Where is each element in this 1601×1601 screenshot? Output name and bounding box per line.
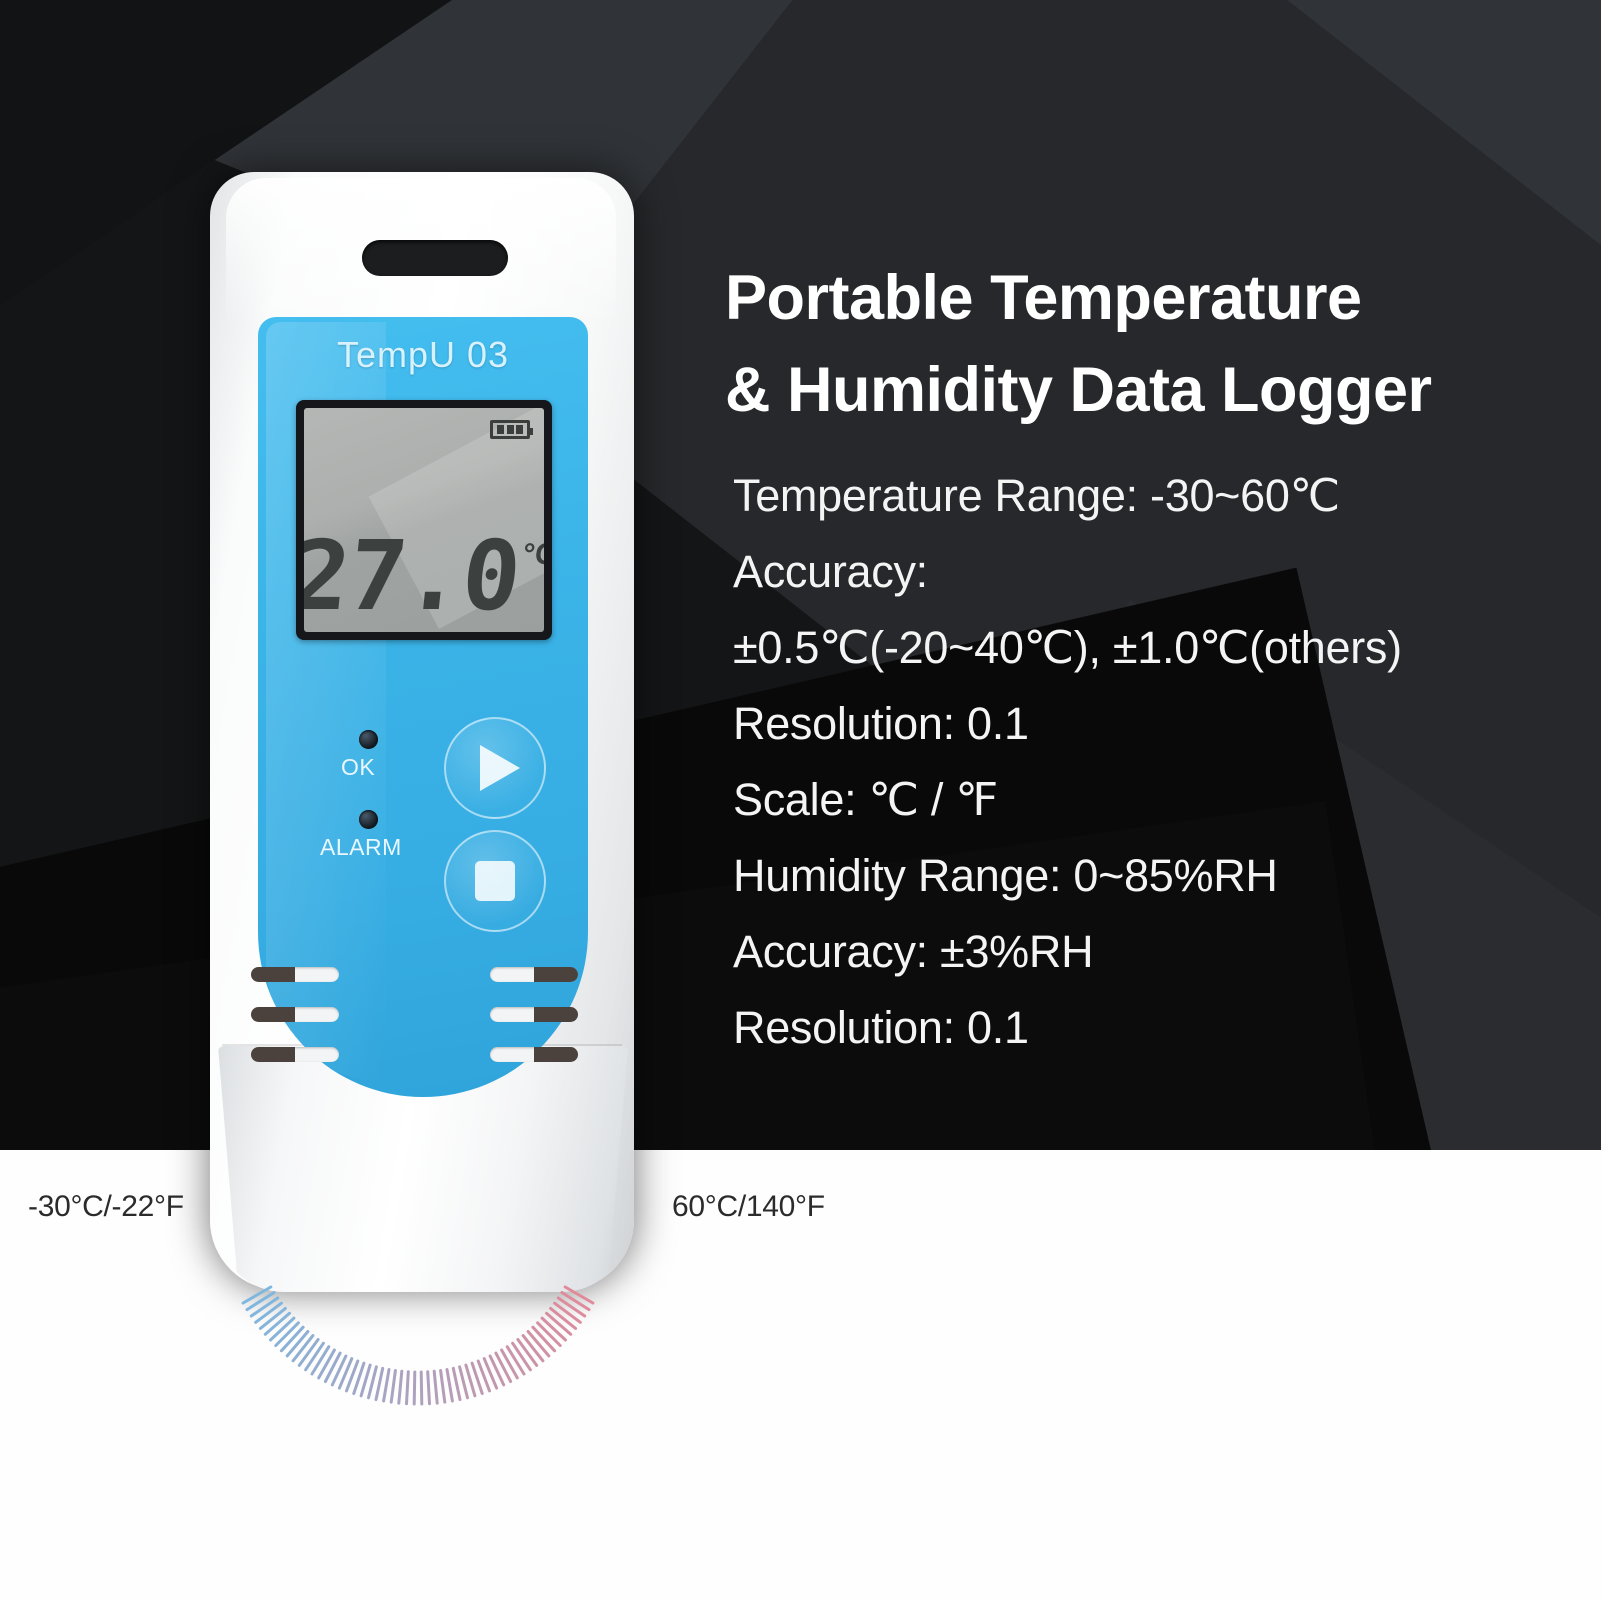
ok-label: OK: [341, 754, 375, 781]
vent-slot: [490, 1047, 578, 1062]
spec-line: Temperature Range: -30~60℃: [733, 458, 1563, 534]
vent-slot: [251, 967, 339, 982]
headline: Portable Temperature & Humidity Data Log…: [725, 252, 1555, 436]
spec-line: Scale: ℃ / ℉: [733, 762, 1563, 838]
ok-led: [359, 730, 378, 749]
spec-line: Resolution: 0.1: [733, 990, 1563, 1066]
vent-slot: [490, 967, 578, 982]
data-logger-device: TempU 03 27.0 °C OK ALARM: [196, 172, 648, 1290]
spec-line: ±0.5℃(-20~40℃), ±1.0℃(others): [733, 610, 1563, 686]
lcd-bezel: 27.0 °C: [296, 400, 552, 640]
hanging-slot: [362, 240, 508, 276]
spec-line: Resolution: 0.1: [733, 686, 1563, 762]
lcd-screen: 27.0 °C: [304, 408, 544, 632]
spec-line: Accuracy: ±3%RH: [733, 914, 1563, 990]
product-banner: TempU 03 27.0 °C OK ALARM: [0, 0, 1601, 1601]
temperature-reading: 27.0 °C: [304, 535, 544, 618]
reading-unit: °C: [521, 538, 544, 572]
reading-value: 27.0: [304, 535, 523, 618]
play-button[interactable]: [444, 717, 546, 819]
brand-label: TempU 03: [258, 334, 588, 376]
spec-line: Humidity Range: 0~85%RH: [733, 838, 1563, 914]
play-triangle-icon: [480, 745, 520, 791]
stop-button[interactable]: [444, 830, 546, 932]
alarm-led: [359, 810, 378, 829]
spec-list: Temperature Range: -30~60℃ Accuracy: ±0.…: [733, 458, 1563, 1066]
vent-slot: [251, 1047, 339, 1062]
headline-line-2: & Humidity Data Logger: [725, 344, 1555, 436]
headline-line-1: Portable Temperature: [725, 252, 1555, 344]
battery-full-icon: [490, 420, 530, 439]
vent-slot: [251, 1007, 339, 1022]
spec-line: Accuracy:: [733, 534, 1563, 610]
stop-square-icon: [475, 861, 515, 901]
vent-slot: [490, 1007, 578, 1022]
temperature-range-gauge: [0, 1150, 900, 1470]
alarm-label: ALARM: [320, 834, 402, 861]
